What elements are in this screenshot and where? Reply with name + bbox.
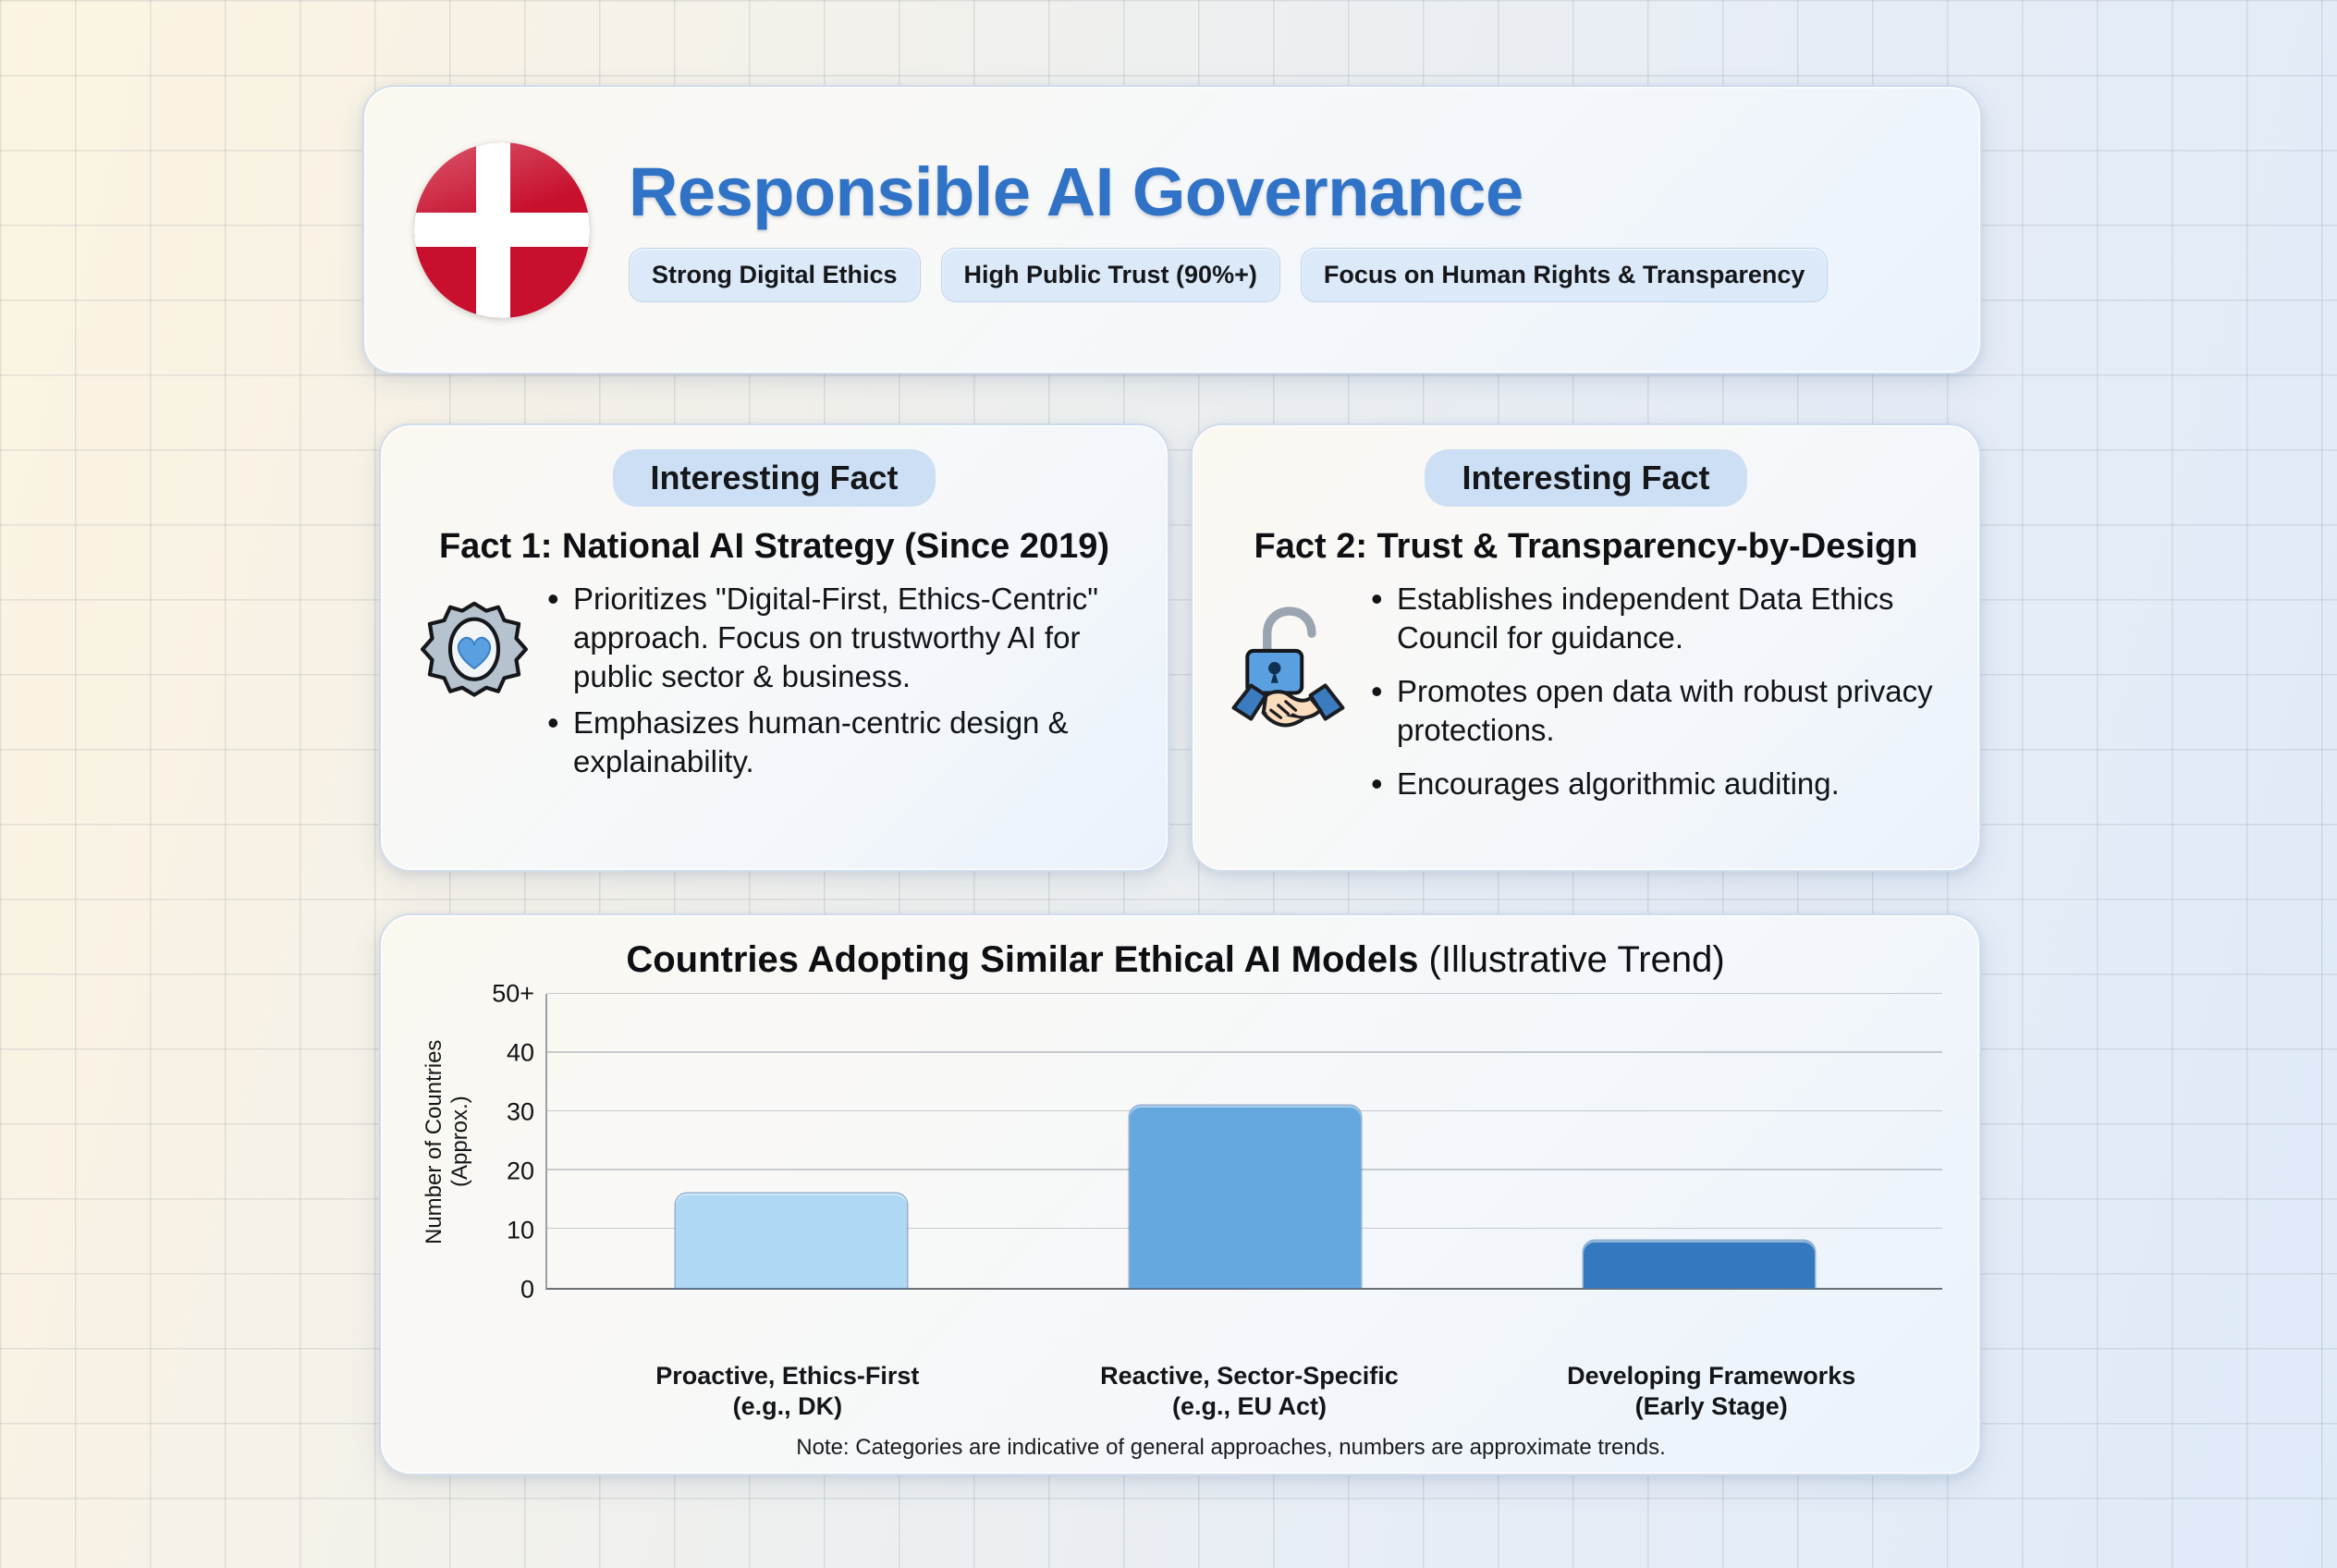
fact-bullet: Encourages algorithmic auditing. <box>1365 765 1946 803</box>
x-axis-label: Developing Frameworks(Early Stage) <box>1480 1361 1942 1422</box>
y-tick-label: 40 <box>507 1039 534 1068</box>
chart-title-sub: (Illustrative Trend) <box>1418 939 1724 980</box>
fact-bullet: Prioritizes "Digital-First, Ethics-Centr… <box>542 580 1134 696</box>
fact-chip-1: Interesting Fact <box>613 449 935 507</box>
fact-card-1: Interesting Fact Fact 1: National AI Str… <box>379 423 1169 872</box>
bar[interactable] <box>1584 1241 1815 1288</box>
fact-heading-2: Fact 2: Trust & Transparency-by-Design <box>1254 527 1918 567</box>
fact-chip-2: Interesting Fact <box>1425 449 1746 507</box>
fact-heading-1: Fact 1: National AI Strategy (Since 2019… <box>439 527 1109 567</box>
y-tick-label: 50+ <box>492 980 534 1009</box>
gear-heart-icon <box>414 580 534 721</box>
fact-bullet: Establishes independent Data Ethics Coun… <box>1365 580 1946 657</box>
plot-area <box>545 994 1942 1290</box>
bar-slot <box>564 994 1018 1288</box>
chart-title-main: Countries Adopting Similar Ethical AI Mo… <box>626 939 1418 980</box>
bar-slot <box>1018 994 1472 1288</box>
y-axis-title: Number of Countries (Approx.) <box>422 994 473 1290</box>
x-axis-label: Proactive, Ethics-First(e.g., DK) <box>557 1361 1019 1422</box>
denmark-flag-icon <box>414 142 590 318</box>
bar-slot <box>1472 994 1926 1288</box>
fact-body-1: Prioritizes "Digital-First, Ethics-Centr… <box>414 580 1134 789</box>
y-tick-label: 0 <box>520 1276 534 1305</box>
chart-title: Countries Adopting Similar Ethical AI Mo… <box>409 939 1942 981</box>
bar[interactable] <box>676 1194 907 1288</box>
y-tick-label: 20 <box>507 1158 534 1186</box>
chart-note: Note: Categories are indicative of gener… <box>520 1435 1942 1461</box>
badge-row: Strong Digital Ethics High Public Trust … <box>629 248 1930 302</box>
fact-bullet-list-1: Prioritizes "Digital-First, Ethics-Centr… <box>542 580 1134 789</box>
badge-high-public-trust[interactable]: High Public Trust (90%+) <box>941 248 1280 302</box>
fact-bullet: Emphasizes human-centric design & explai… <box>542 704 1134 781</box>
badge-strong-digital-ethics[interactable]: Strong Digital Ethics <box>629 248 921 302</box>
y-axis-ticks: 01020304050+ <box>479 994 545 1290</box>
x-axis-labels: Proactive, Ethics-First(e.g., DK)Reactiv… <box>557 1361 1942 1422</box>
y-tick-label: 10 <box>507 1217 534 1245</box>
flag-gloss <box>414 142 590 318</box>
y-tick-label: 30 <box>507 1098 534 1127</box>
fact-bullet-list-2: Establishes independent Data Ethics Coun… <box>1365 580 1946 818</box>
badge-human-rights-transparency[interactable]: Focus on Human Rights & Transparency <box>1301 248 1829 302</box>
bar-group <box>547 994 1942 1288</box>
fact-body-2: Establishes independent Data Ethics Coun… <box>1226 580 1946 818</box>
fact-bullet: Promotes open data with robust privacy p… <box>1365 672 1946 750</box>
bar[interactable] <box>1130 1106 1361 1288</box>
header-text-block: Responsible AI Governance Strong Digital… <box>629 157 1930 303</box>
chart-card: Countries Adopting Similar Ethical AI Mo… <box>379 913 1981 1476</box>
fact-card-2: Interesting Fact Fact 2: Trust & Transpa… <box>1191 423 1981 872</box>
plot-wrap: Number of Countries (Approx.) 0102030405… <box>409 994 1942 1354</box>
x-axis-label: Reactive, Sector-Specific(e.g., EU Act) <box>1019 1361 1481 1422</box>
open-lock-handshake-icon <box>1226 580 1351 740</box>
header-card: Responsible AI Governance Strong Digital… <box>362 85 1982 374</box>
page-title: Responsible AI Governance <box>629 157 1930 228</box>
